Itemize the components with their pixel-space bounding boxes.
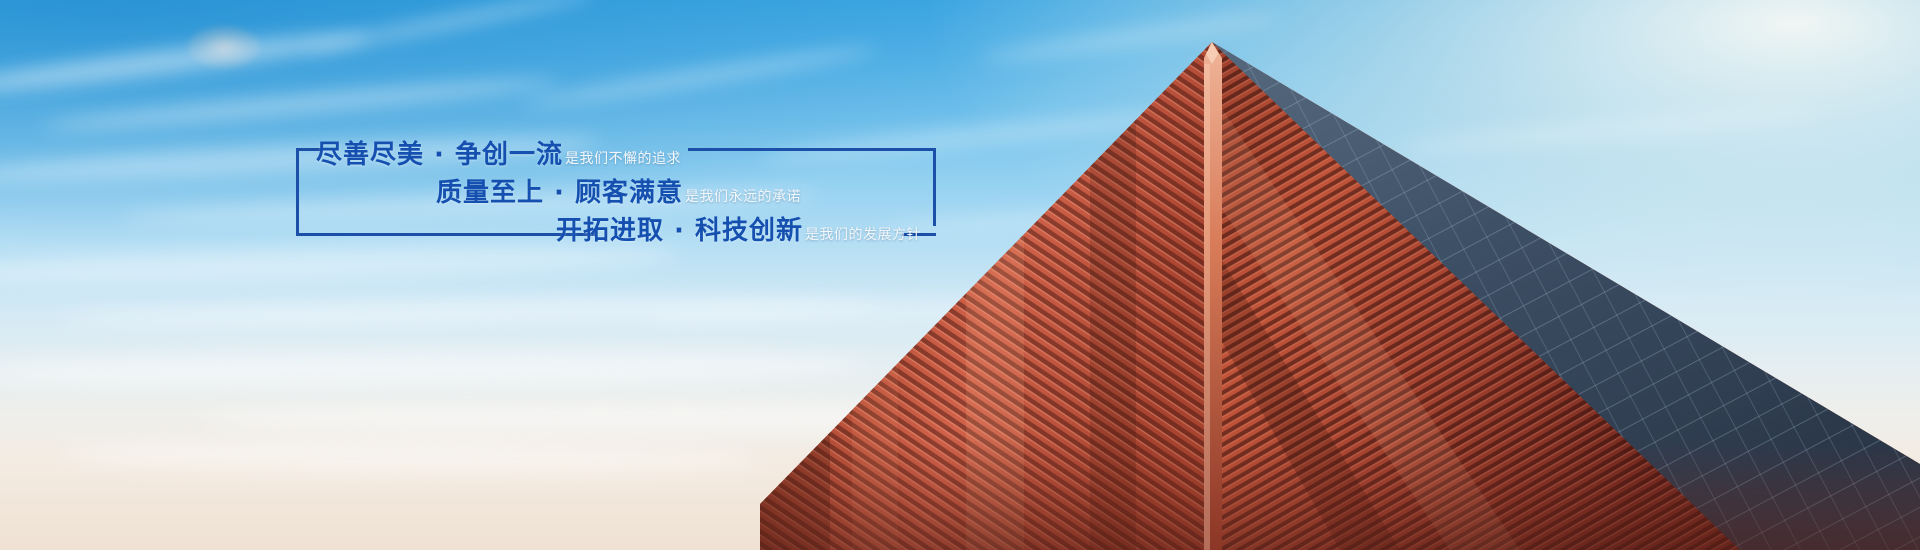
- slogan-line-1: 尽善尽美 · 争创一流 是我们不懈的追求: [316, 134, 681, 171]
- building-photo: [760, 34, 1920, 550]
- slogan-block: 尽善尽美 · 争创一流 是我们不懈的追求 质量至上 · 顾客满意 是我们永远的承…: [296, 138, 942, 238]
- slogan-line-2: 质量至上 · 顾客满意 是我们永远的承诺: [436, 172, 801, 209]
- slogan-headline-1: 尽善尽美 · 争创一流: [316, 134, 563, 171]
- building-illustration: [760, 34, 1920, 550]
- slogan-line-3: 开拓进取 · 科技创新 是我们的发展方针: [556, 210, 921, 247]
- frame-left-vertical: [296, 148, 299, 236]
- slogan-headline-2: 质量至上 · 顾客满意: [436, 172, 683, 209]
- slogan-subtext-3: 是我们的发展方针: [805, 224, 921, 244]
- hero-banner: 尽善尽美 · 争创一流 是我们不懈的追求 质量至上 · 顾客满意 是我们永远的承…: [0, 0, 1920, 550]
- slogan-subtext-2: 是我们永远的承诺: [685, 186, 801, 206]
- slogan-subtext-1: 是我们不懈的追求: [565, 148, 681, 168]
- frame-bottom-left-rule: [296, 233, 596, 236]
- lens-flare-icon: [188, 26, 260, 68]
- frame-right-vertical: [933, 148, 936, 226]
- frame-top-right-rule: [688, 148, 936, 151]
- slogan-headline-3: 开拓进取 · 科技创新: [556, 210, 803, 247]
